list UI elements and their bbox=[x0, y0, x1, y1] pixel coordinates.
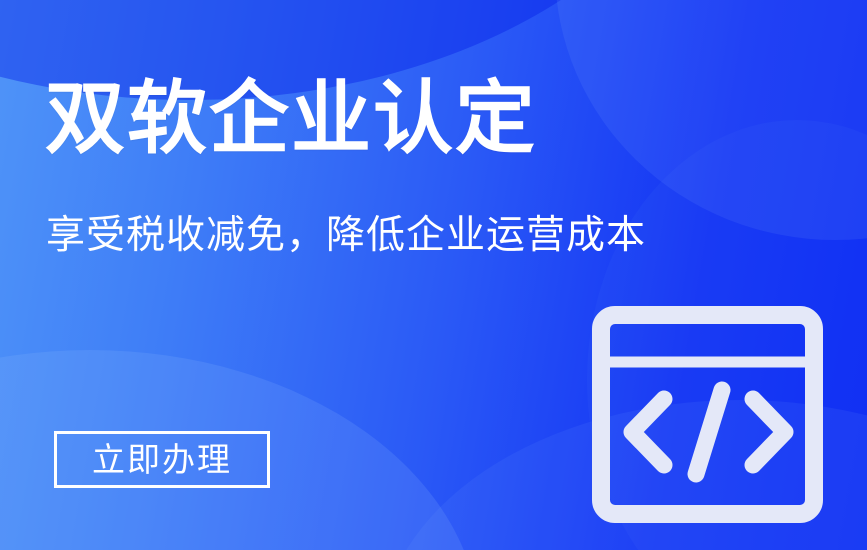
banner-headline: 双软企业认定 bbox=[45, 79, 537, 159]
banner-content: 双软企业认定 享受税收减免，降低企业运营成本 立即办理 bbox=[0, 0, 867, 550]
banner-subheadline: 享受税收减免，降低企业运营成本 bbox=[46, 215, 646, 258]
code-window-icon bbox=[592, 306, 823, 523]
promo-banner: 双软企业认定 享受税收减免，降低企业运营成本 立即办理 bbox=[0, 0, 867, 550]
apply-now-button[interactable]: 立即办理 bbox=[54, 431, 270, 488]
